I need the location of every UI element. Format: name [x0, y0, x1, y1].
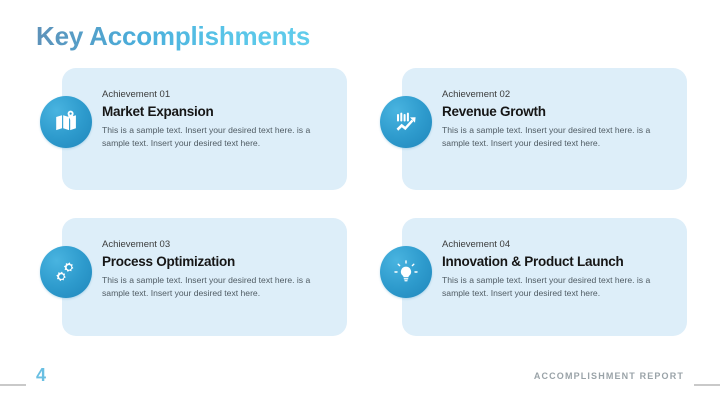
card-content: Achievement 04 Innovation & Product Laun… — [442, 238, 672, 299]
card-description: This is a sample text. Insert your desir… — [102, 274, 324, 299]
achievement-card-02[interactable]: Achievement 02 Revenue Growth This is a … — [362, 68, 705, 198]
map-location-icon — [40, 96, 92, 148]
achievement-card-04[interactable]: Achievement 04 Innovation & Product Laun… — [362, 218, 705, 348]
footer-rule-left — [0, 384, 26, 386]
card-title: Innovation & Product Launch — [442, 253, 672, 270]
card-eyebrow: Achievement 03 — [102, 238, 332, 251]
card-content: Achievement 02 Revenue Growth This is a … — [442, 88, 672, 149]
card-description: This is a sample text. Insert your desir… — [442, 124, 664, 149]
card-content: Achievement 01 Market Expansion This is … — [102, 88, 332, 149]
card-eyebrow: Achievement 02 — [442, 88, 672, 101]
achievement-card-03[interactable]: Achievement 03 Process Optimization This… — [22, 218, 365, 348]
card-title: Revenue Growth — [442, 103, 672, 120]
growth-chart-icon — [380, 96, 432, 148]
card-description: This is a sample text. Insert your desir… — [102, 124, 324, 149]
achievement-card-01[interactable]: Achievement 01 Market Expansion This is … — [22, 68, 365, 198]
page-title: Key Accomplishments — [36, 21, 310, 52]
card-description: This is a sample text. Insert your desir… — [442, 274, 664, 299]
card-title: Process Optimization — [102, 253, 332, 270]
card-eyebrow: Achievement 04 — [442, 238, 672, 251]
slide-canvas: Key Accomplishments Achievement 0 — [0, 0, 720, 404]
card-content: Achievement 03 Process Optimization This… — [102, 238, 332, 299]
page-number: 4 — [36, 365, 46, 386]
card-eyebrow: Achievement 01 — [102, 88, 332, 101]
lightbulb-icon — [380, 246, 432, 298]
gears-icon — [40, 246, 92, 298]
footer-label: ACCOMPLISHMENT REPORT — [534, 371, 684, 381]
card-title: Market Expansion — [102, 103, 332, 120]
footer-rule-right — [694, 384, 720, 386]
